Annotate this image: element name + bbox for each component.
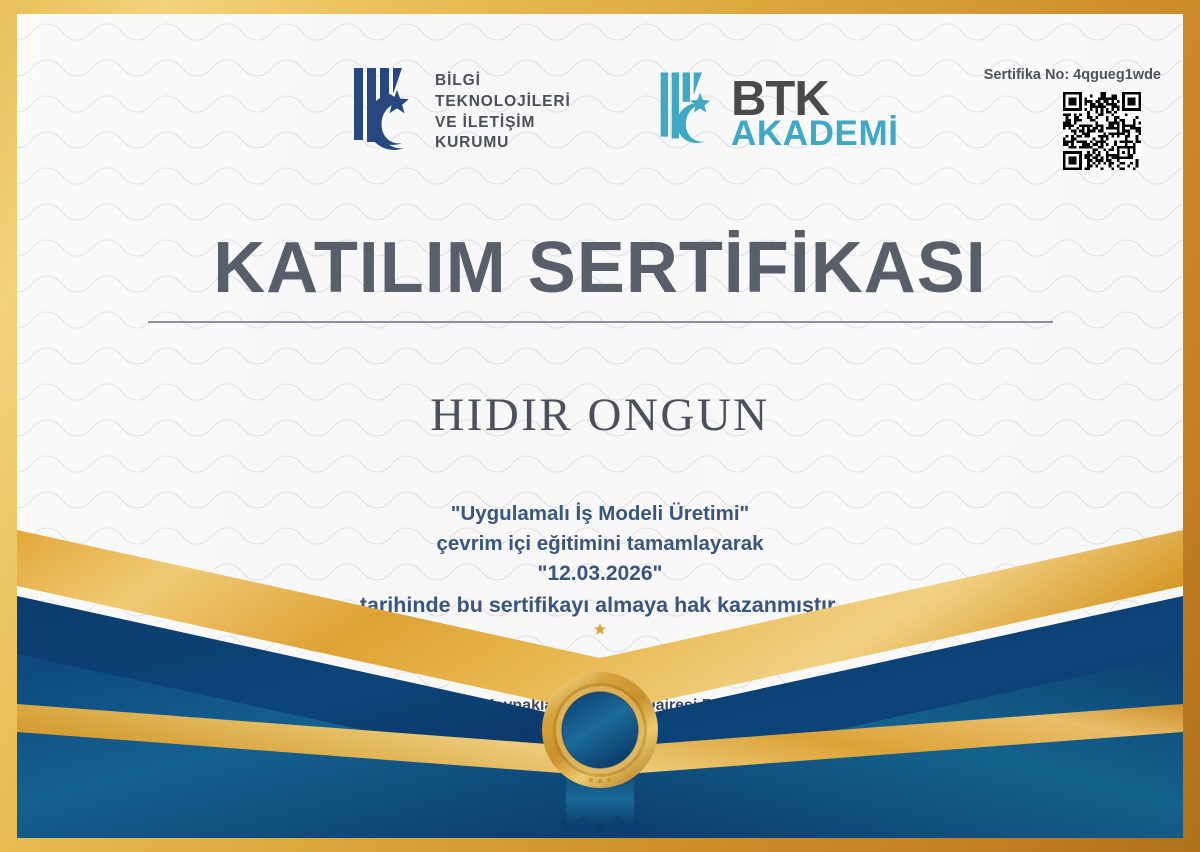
course-name: "Uygulamalı İş Modeli Üretimi" [17,499,1183,529]
academy-logo-secondary: AKADEMİ [731,118,899,151]
btk-akademi-crescent-star-emblem-icon [657,66,723,161]
certificate-body: "Uygulamalı İş Modeli Üretimi" çevrim iç… [17,499,1183,622]
signatory-title-line-1: İnsan Kaynakları ve Eğitim Dairesi Başka… [17,694,1183,717]
signatory-title: İnsan Kaynakları ve Eğitim Dairesi Başka… [17,694,1183,740]
certificate-header: BİLGİ TEKNOLOJİLERİ VE İLETİŞİM KURUMU [17,54,1183,174]
institution-line-2: TEKNOLOJİLERİ [435,92,571,113]
academy-logo: BTK AKADEMİ [657,66,899,161]
signatory-title-line-2: Bilgi Teknolojileri ve İletişim Kurumu [17,717,1183,740]
btk-crescent-star-emblem-icon [350,62,422,163]
signatory-name: Mustafa ERMİŞ [17,662,1183,682]
institution-logo: BİLGİ TEKNOLOJİLERİ VE İLETİŞİM KURUMU [350,62,571,163]
certificate-number: Sertifika No: 4qgueg1wde [984,67,1161,83]
title-divider-rule [148,321,1053,323]
star-icon [17,622,1183,636]
certificate-paper: BİLGİ TEKNOLOJİLERİ VE İLETİŞİM KURUMU [17,14,1183,838]
institution-logo-text: BİLGİ TEKNOLOJİLERİ VE İLETİŞİM KURUMU [435,71,571,153]
recipient-name: HIDIR ONGUN [17,388,1183,442]
page-title: KATILIM SERTİFİKASI [17,232,1183,323]
institution-line-1: BİLGİ [435,71,571,92]
institution-line-4: KURUMU [435,133,571,154]
signature-block: Mustafa ERMİŞ İnsan Kaynakları ve Eğitim… [17,662,1183,740]
qr-code-icon[interactable] [1063,92,1141,170]
academy-logo-text: BTK AKADEMİ [731,76,899,151]
closing-line: tarihinde bu sertifikayı almaya hak kaza… [17,590,1183,622]
institution-line-3: VE İLETİŞİM [435,113,571,134]
main-title-text: KATILIM SERTİFİKASI [17,232,1183,304]
completion-date: "12.03.2026" [17,559,1183,590]
completion-line: çevrim içi eğitimini tamamlayarak [17,529,1183,559]
certificate: BİLGİ TEKNOLOJİLERİ VE İLETİŞİM KURUMU [0,0,1200,852]
